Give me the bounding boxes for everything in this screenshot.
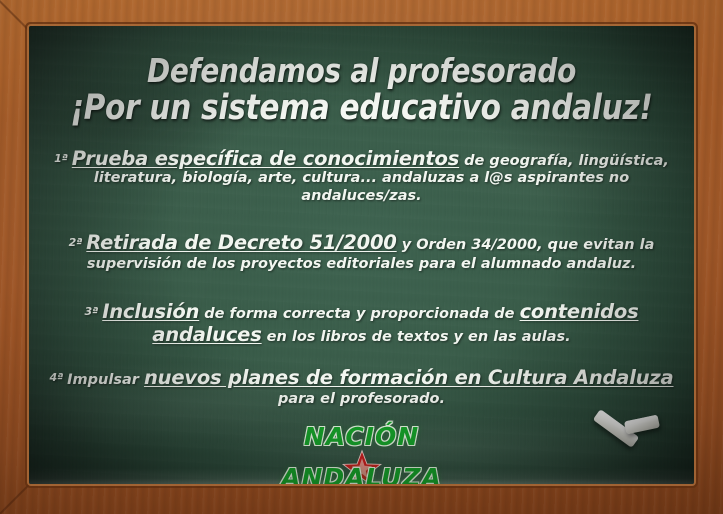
list-item: 3ª Inclusión de forma correcta y proporc… — [64, 300, 660, 346]
list-item: 4ª Impulsar nuevos planes de formación e… — [43, 366, 680, 408]
list-item-number: 3ª — [85, 305, 103, 318]
headline-line-2: ¡Por un sistema educativo andaluz! — [62, 91, 661, 127]
list-item: 1ª Prueba específica de conocimientos de… — [44, 147, 680, 204]
list-item: 2ª Retirada de Decreto 51/2000 y Orden 3… — [62, 231, 662, 273]
list-item-number: 2ª — [69, 236, 87, 249]
demand-text: Impulsar — [67, 372, 144, 388]
list-item-number: 1ª — [54, 152, 72, 165]
emphasized-demand-text: nuevos planes de formación en Cultura An… — [144, 366, 674, 389]
demands-list: 1ª Prueba específica de conocimientos de… — [43, 147, 680, 408]
organization-logo: NACIÓN ANDALUZA — [262, 424, 462, 484]
headline-line-1: Defendamos al profesorado — [62, 54, 661, 88]
emphasized-demand-text: Retirada de Decreto 51/2000 — [86, 231, 396, 254]
chalkboard-poster: Defendamos al profesorado ¡Por un sistem… — [0, 0, 723, 514]
logo-line-2: ANDALUZA — [262, 465, 462, 484]
demand-text: en los libros de textos y en las aulas. — [262, 329, 571, 345]
list-item-number: 4ª — [49, 371, 67, 384]
emphasized-demand-text: Inclusión — [102, 300, 199, 323]
demand-text: para el profesorado. — [278, 391, 445, 407]
demand-text: de forma correcta y proporcionada de — [199, 306, 519, 322]
page-title: Defendamos al profesorado ¡Por un sistem… — [43, 54, 680, 126]
chalkboard-surface: Defendamos al profesorado ¡Por un sistem… — [29, 26, 694, 484]
logo-line-1: NACIÓN — [262, 424, 462, 449]
emphasized-demand-text: Prueba específica de conocimientos — [72, 147, 459, 170]
